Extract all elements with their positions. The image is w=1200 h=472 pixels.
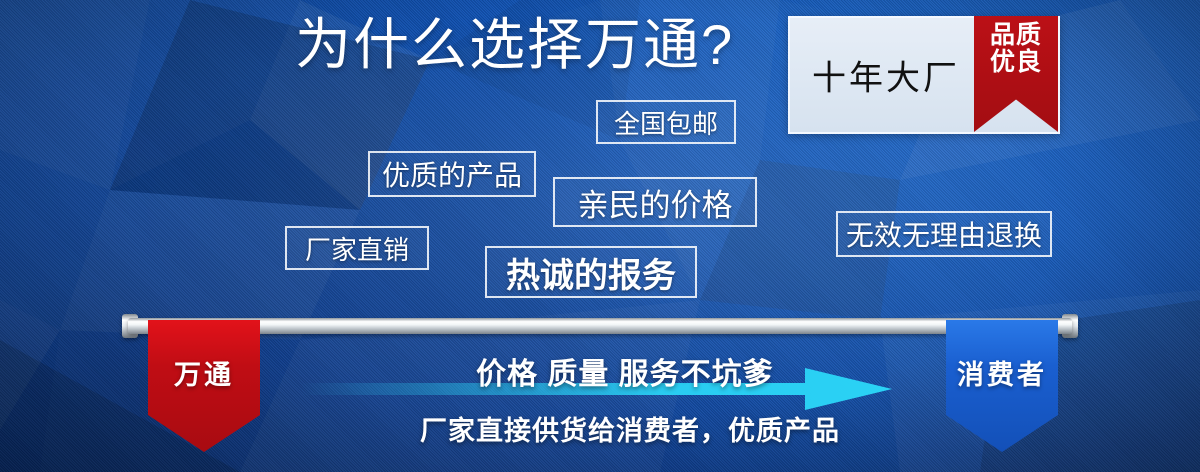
badge-title: 十年大厂 — [812, 51, 960, 100]
pennant-source-label: 万通 — [174, 353, 234, 392]
feature-tag-no-reason-return: 无效无理由退换 — [836, 211, 1052, 257]
ribbon-line-1: 品质 — [974, 22, 1058, 49]
ten-year-factory-badge: 十年大厂 品质优良 — [788, 16, 1060, 134]
ribbon-line-2: 优良 — [974, 49, 1058, 76]
pennant-target-label: 消费者 — [957, 353, 1047, 392]
feature-tag-nationwide-shipping: 全国包邮 — [596, 100, 736, 144]
flow-slogan-secondary: 厂家直接供货给消费者，优质产品 — [420, 409, 840, 448]
feature-tag-factory-direct: 厂家直销 — [285, 226, 429, 270]
page-title: 为什么选择万通? — [295, 14, 734, 76]
flow-slogan-primary: 价格 质量 服务不坑爹 — [476, 349, 774, 393]
promo-banner: 为什么选择万通? 十年大厂 品质优良 全国包邮 优质的产品 亲民的价格 厂家直销… — [0, 0, 1200, 472]
curtain-rod — [128, 318, 1072, 334]
feature-tag-quality-product: 优质的产品 — [368, 151, 536, 197]
feature-tag-sincere-service: 热诚的报务 — [485, 246, 697, 298]
ribbon-label: 品质优良 — [974, 22, 1058, 76]
feature-tag-friendly-price: 亲民的价格 — [553, 177, 757, 227]
quality-ribbon: 品质优良 — [974, 16, 1058, 132]
